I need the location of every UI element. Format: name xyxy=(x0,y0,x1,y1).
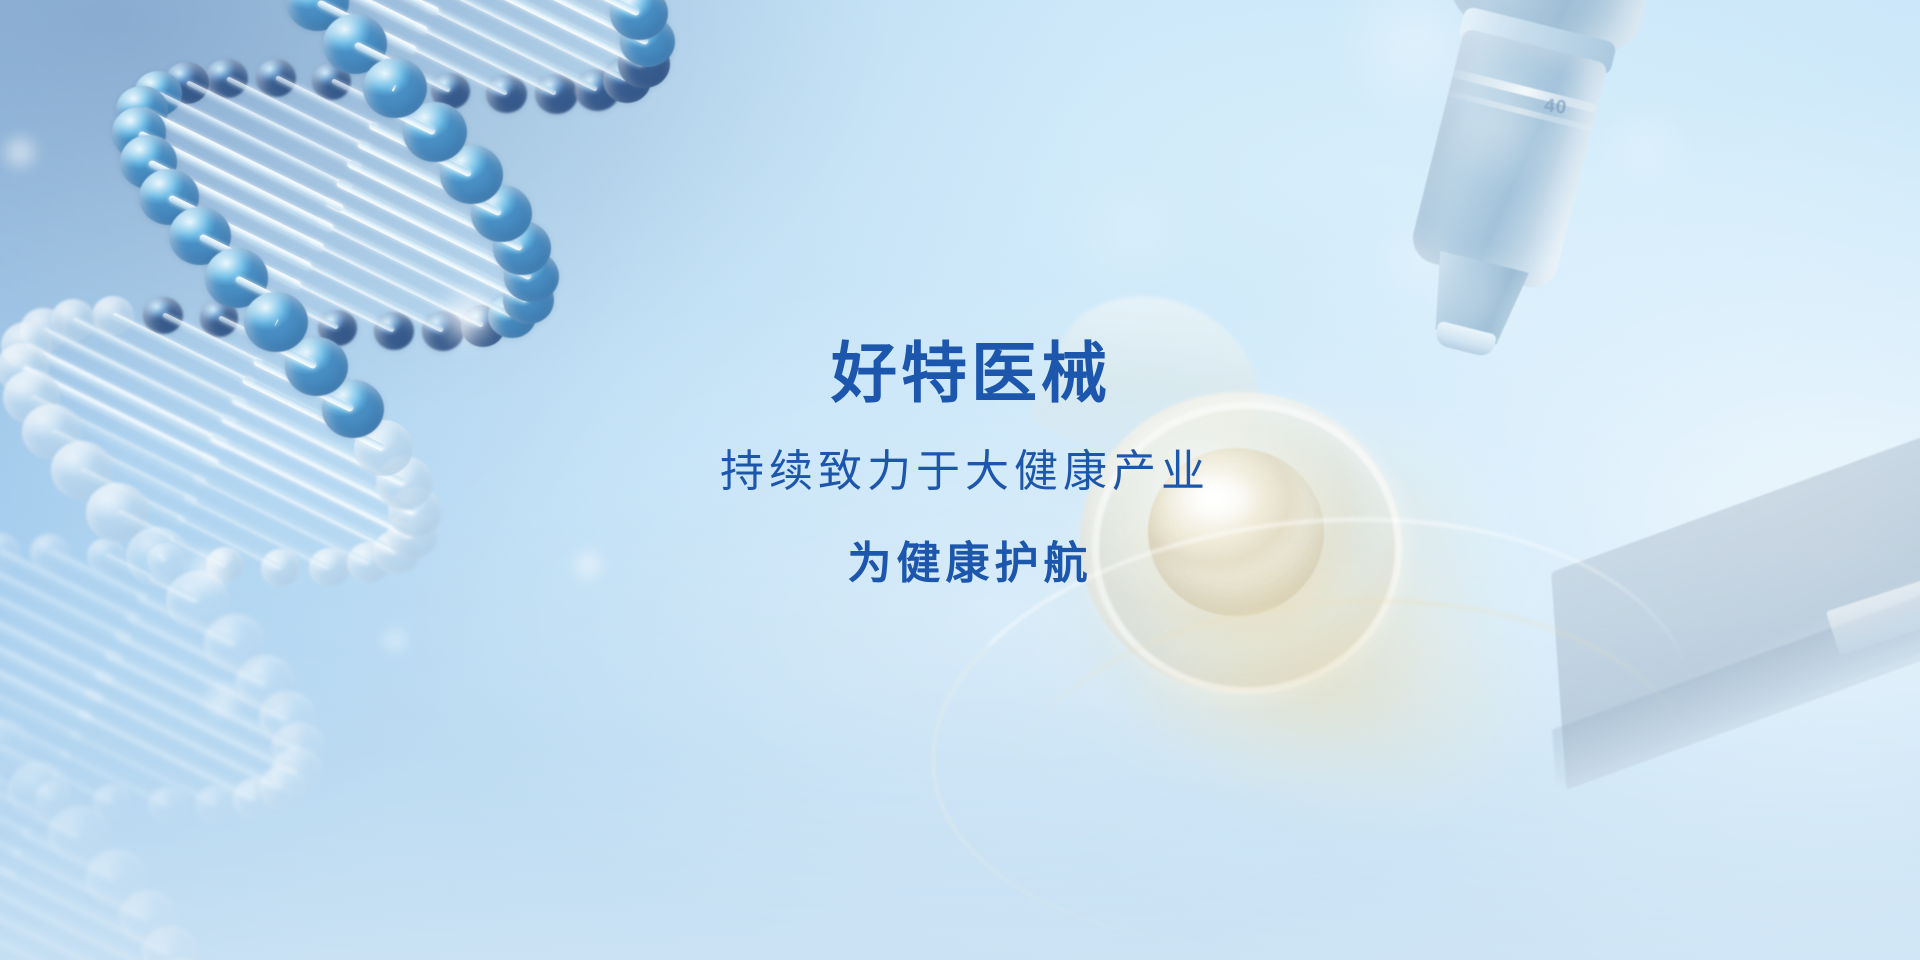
dna-nucleotide-sphere xyxy=(51,299,95,341)
dna-nucleotide-sphere xyxy=(471,185,531,242)
dna-nucleotide-sphere xyxy=(164,62,209,104)
dna-backbone-rod xyxy=(198,233,302,289)
dna-backbone-rod xyxy=(68,730,217,806)
dna-backbone-rod xyxy=(451,0,649,45)
microscope-magnification-label: 40 xyxy=(1543,95,1569,120)
dna-backbone-rod xyxy=(138,130,335,231)
bokeh-light-dot xyxy=(378,623,412,657)
dna-backbone-rod xyxy=(0,663,82,741)
dna-backbone-rod xyxy=(368,122,473,178)
dna-backbone-rod xyxy=(380,103,437,136)
dna-nucleotide-sphere xyxy=(493,221,551,275)
dna-nucleotide-sphere xyxy=(312,63,351,100)
dna-nucleotide-sphere xyxy=(610,0,668,40)
dna-nucleotide-sphere xyxy=(92,296,134,335)
hero-text-block: 好特医械 持续致力于大健康产业 为健康护航 xyxy=(0,340,1920,586)
dna-backbone-rod xyxy=(0,905,183,960)
dna-backbone-rod xyxy=(433,0,628,82)
dna-backbone-rod xyxy=(300,258,444,332)
dna-nucleotide-sphere xyxy=(35,780,72,815)
dna-nucleotide-sphere xyxy=(120,135,177,189)
dna-backbone-rod xyxy=(126,612,267,686)
dna-backbone-rod xyxy=(0,867,172,956)
dna-backbone-rod xyxy=(86,689,284,789)
dna-backbone-rod xyxy=(284,299,339,329)
dna-backbone-rod xyxy=(0,579,113,684)
dna-backbone-rod xyxy=(391,84,396,91)
dna-backbone-rod xyxy=(316,0,417,53)
dna-nucleotide-sphere xyxy=(143,297,183,334)
dna-nucleotide-sphere xyxy=(0,718,30,776)
dna-backbone-rod xyxy=(95,670,299,775)
dna-backbone-rod xyxy=(264,0,439,15)
dna-nucleotide-sphere xyxy=(112,107,166,158)
dna-backbone-rod xyxy=(0,790,15,878)
dna-nucleotide-sphere xyxy=(86,849,146,906)
dna-backbone-rod xyxy=(0,786,23,857)
bokeh-light-dot xyxy=(1058,162,1198,302)
dna-nucleotide-sphere xyxy=(323,14,387,74)
dna-backbone-rod xyxy=(400,64,452,93)
dna-nucleotide-sphere xyxy=(618,40,670,89)
dna-backbone-rod xyxy=(317,218,513,318)
dna-nucleotide-sphere xyxy=(256,59,296,97)
dna-nucleotide-sphere xyxy=(440,145,503,204)
dna-backbone-rod xyxy=(326,198,530,303)
dna-nucleotide-sphere xyxy=(272,747,322,794)
dna-nucleotide-sphere xyxy=(286,0,349,31)
dna-backbone-rod xyxy=(292,279,395,333)
dna-nucleotide-sphere xyxy=(504,251,559,302)
dna-nucleotide-sphere xyxy=(259,766,306,810)
dna-nucleotide-sphere xyxy=(205,59,247,99)
dna-nucleotide-sphere xyxy=(169,207,231,265)
bokeh-light-dot xyxy=(200,678,244,722)
dna-nucleotide-sphere xyxy=(259,691,315,744)
bokeh-light-dot xyxy=(0,130,42,174)
dna-nucleotide-sphere xyxy=(148,787,187,824)
dna-nucleotide-sphere xyxy=(575,69,620,111)
dna-backbone-rod xyxy=(77,709,256,800)
dna-backbone-rod xyxy=(45,791,55,799)
page-subtitle: 持续致力于大健康产业 xyxy=(0,450,1920,494)
dna-nucleotide-sphere xyxy=(139,169,199,225)
dna-backbone-rod xyxy=(157,91,353,191)
dna-backbone-rod xyxy=(0,787,31,837)
dna-nucleotide-sphere xyxy=(8,761,70,819)
dna-nucleotide-sphere xyxy=(620,16,675,68)
dna-backbone-rod xyxy=(286,0,429,34)
dna-backbone-rod xyxy=(0,886,183,960)
dna-backbone-rod xyxy=(60,750,169,807)
dna-nucleotide-sphere xyxy=(142,926,198,960)
dna-backbone-rod xyxy=(168,194,313,270)
dna-backbone-rod xyxy=(0,790,39,816)
dna-nucleotide-sphere xyxy=(48,806,110,864)
dna-backbone-rod xyxy=(141,108,345,213)
dna-backbone-rod xyxy=(353,41,406,72)
dna-backbone-rod xyxy=(0,744,59,779)
dna-backbone-rod xyxy=(0,629,93,722)
dna-backbone-rod xyxy=(407,43,507,96)
dna-nucleotide-sphere xyxy=(363,58,427,119)
dna-nucleotide-sphere xyxy=(200,300,239,336)
dna-backbone-rod xyxy=(235,276,291,308)
dna-backbone-rod xyxy=(37,788,48,798)
dna-nucleotide-sphere xyxy=(236,655,295,711)
dna-nucleotide-sphere xyxy=(119,890,177,945)
dna-backbone-rod xyxy=(0,925,168,960)
dna-backbone-rod xyxy=(275,320,279,327)
dna-backbone-rod xyxy=(137,593,236,646)
dna-backbone-rod xyxy=(10,848,149,921)
dna-nucleotide-sphere xyxy=(431,73,470,110)
dna-backbone-rod xyxy=(441,0,645,68)
dna-backbone-rod xyxy=(226,76,371,151)
dna-backbone-rod xyxy=(346,160,523,252)
dna-backbone-rod xyxy=(186,81,363,171)
dna-backbone-rod xyxy=(462,0,641,17)
dna-nucleotide-sphere xyxy=(204,614,265,671)
dna-backbone-rod xyxy=(336,179,533,281)
page-title: 好特医械 xyxy=(0,340,1920,406)
dna-backbone-rod xyxy=(115,631,289,721)
dna-backbone-rod xyxy=(33,810,80,838)
dna-backbone-rod xyxy=(52,771,113,804)
dna-nucleotide-sphere xyxy=(134,71,182,116)
dna-nucleotide-sphere xyxy=(486,75,526,113)
dna-backbone-rod xyxy=(424,3,598,92)
dna-nucleotide-sphere xyxy=(116,86,167,134)
dna-backbone-rod xyxy=(276,320,279,325)
hero-banner: 40 好特医械 持续致力于大健康产业 为健康护航 xyxy=(0,0,1920,960)
dna-nucleotide-sphere xyxy=(93,784,131,819)
dna-nucleotide-sphere xyxy=(272,722,325,772)
dna-nucleotide-sphere xyxy=(403,102,467,162)
dna-nucleotide-sphere xyxy=(603,57,651,102)
dna-nucleotide-sphere xyxy=(503,276,554,324)
dna-backbone-rod xyxy=(275,76,379,130)
dna-backbone-rod xyxy=(308,238,484,328)
dna-nucleotide-sphere xyxy=(372,68,411,104)
dna-backbone-rod xyxy=(390,83,394,89)
microscope-barrel xyxy=(1407,28,1608,293)
dna-backbone-rod xyxy=(0,601,103,703)
dna-nucleotide-sphere xyxy=(259,305,297,341)
dna-backbone-rod xyxy=(415,23,557,96)
dna-backbone-rod xyxy=(0,945,142,960)
dna-backbone-rod xyxy=(0,702,71,760)
dna-backbone-rod xyxy=(357,141,503,217)
dna-backbone-rod xyxy=(331,79,387,110)
dna-nucleotide-sphere xyxy=(488,294,536,339)
dna-nucleotide-sphere xyxy=(0,775,12,810)
dna-backbone-rod xyxy=(22,829,118,881)
dna-backbone-rod xyxy=(105,650,300,751)
page-tagline: 为健康护航 xyxy=(0,542,1920,586)
dna-nucleotide-sphere xyxy=(205,248,268,307)
dna-nucleotide-sphere xyxy=(195,785,236,824)
dna-backbone-rod xyxy=(147,159,324,251)
dna-nucleotide-sphere xyxy=(535,74,577,114)
dna-nucleotide-sphere xyxy=(233,778,277,819)
